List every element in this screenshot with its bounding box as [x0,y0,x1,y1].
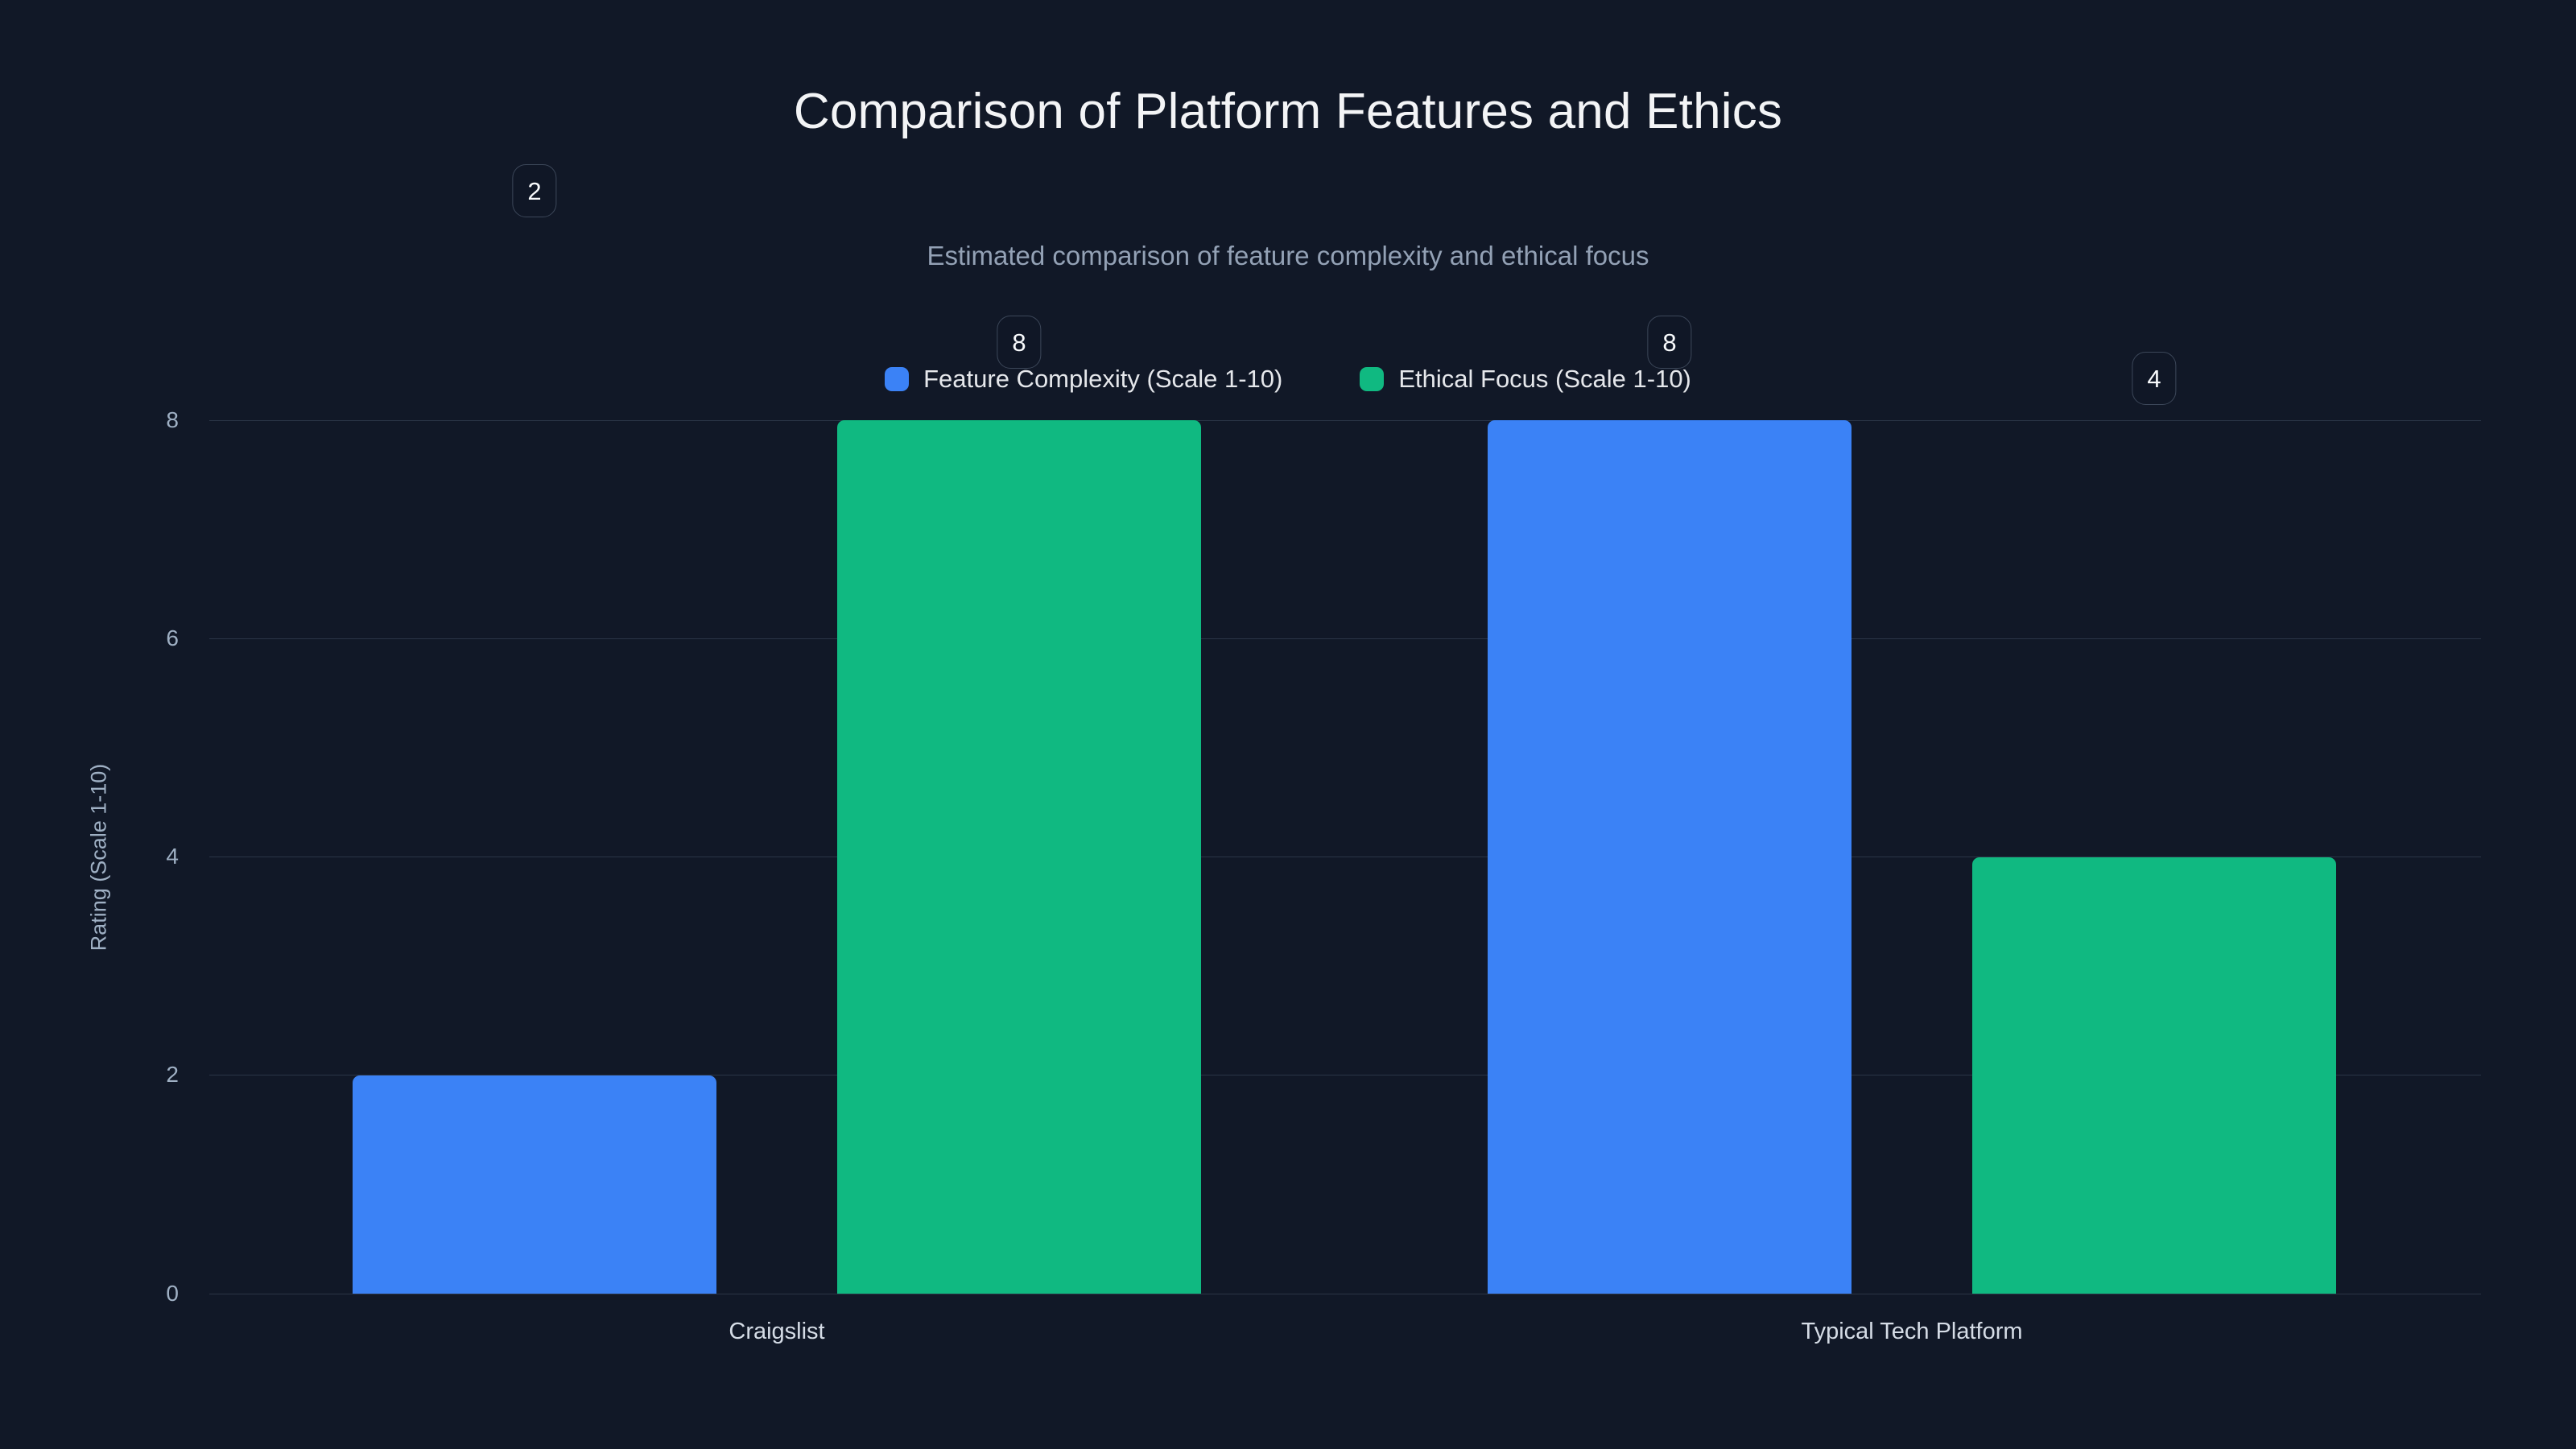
y-axis-title: Rating (Scale 1-10) [89,764,110,952]
y-tick-6: 6 [166,627,179,650]
y-tick-2: 2 [166,1063,179,1086]
y-tick-8: 8 [166,409,179,431]
chart-subtitle: Estimated comparison of feature complexi… [0,242,2576,270]
chart-title: Comparison of Platform Features and Ethi… [0,85,2576,139]
gridline-8 [209,420,2481,421]
bar-typical-tech-platform-ethical-focus[interactable] [1972,857,2336,1294]
gridline-0 [209,1294,2481,1294]
bar-typical-tech-platform-feature-complexity[interactable] [1488,420,1851,1294]
plot-area: 2 8 8 4 [209,420,2481,1294]
x-tick-craigslist: Craigslist [729,1320,824,1344]
x-axis-tick-labels: Craigslist Typical Tech Platform [209,1320,2481,1368]
legend-label-feature-complexity: Feature Complexity (Scale 1-10) [923,366,1282,391]
legend-swatch-icon-ethical-focus [1360,367,1384,391]
value-badge-typical-tech-platform-ethical-focus: 4 [2132,352,2176,405]
bar-chart-figure: Comparison of Platform Features and Ethi… [0,0,2576,1449]
value-badge-craigslist-ethical-focus: 8 [997,316,1041,369]
bar-craigslist-ethical-focus[interactable] [837,420,1201,1294]
legend-item-feature-complexity[interactable]: Feature Complexity (Scale 1-10) [885,366,1282,391]
legend-item-ethical-focus[interactable]: Ethical Focus (Scale 1-10) [1360,366,1691,391]
gridline-6 [209,638,2481,639]
legend-swatch-icon-feature-complexity [885,367,909,391]
x-tick-typical-tech-platform: Typical Tech Platform [1801,1320,2022,1344]
y-tick-0: 0 [166,1282,179,1305]
bar-craigslist-feature-complexity[interactable] [353,1075,716,1294]
chart-legend: Feature Complexity (Scale 1-10) Ethical … [0,366,2576,391]
legend-label-ethical-focus: Ethical Focus (Scale 1-10) [1398,366,1691,391]
value-badge-craigslist-feature-complexity: 2 [512,164,556,217]
value-badge-typical-tech-platform-feature-complexity: 8 [1647,316,1691,369]
y-tick-4: 4 [166,845,179,868]
